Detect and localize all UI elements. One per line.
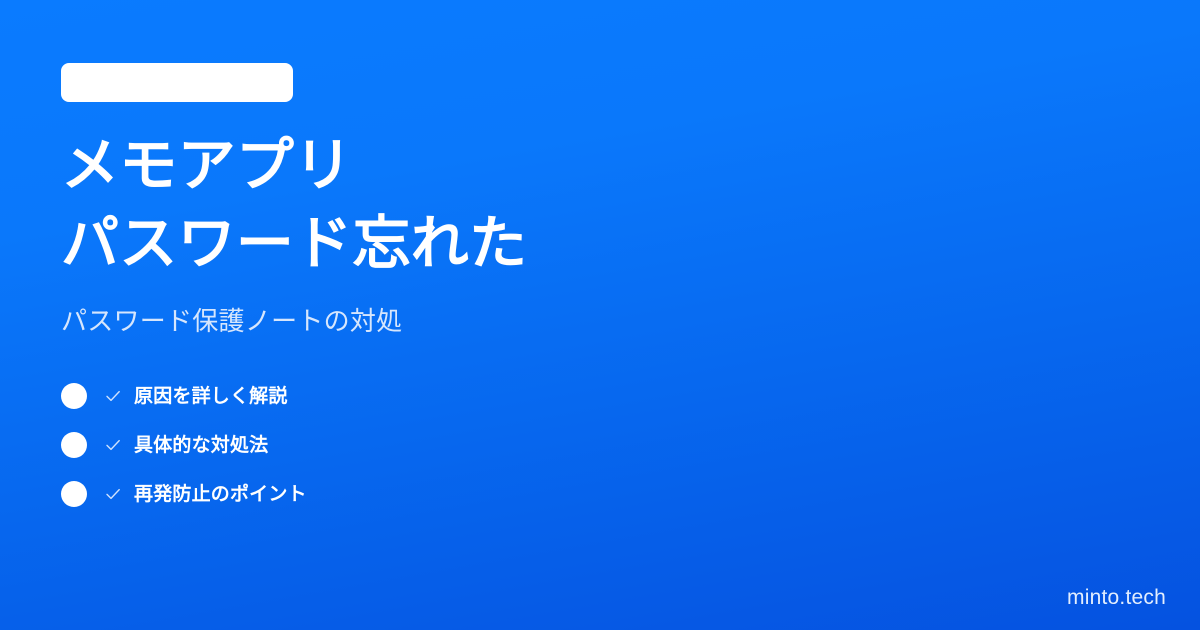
page-title-line-1: メモアプリ [61, 127, 527, 205]
check-icon [104, 436, 122, 454]
category-badge [61, 63, 293, 102]
og-card: メモアプリ パスワード忘れた パスワード保護ノートの対処 原因を詳しく解説 具体… [0, 0, 1200, 630]
feature-list: 原因を詳しく解説 具体的な対処法 再発防止のポイント [61, 381, 307, 509]
list-item-label: 再発防止のポイント [134, 485, 307, 504]
list-item-label: 具体的な対処法 [134, 436, 268, 455]
check-icon [104, 387, 122, 405]
bullet-dot-icon [61, 481, 87, 507]
list-item: 原因を詳しく解説 [61, 381, 307, 411]
site-brand: minto.tech [1067, 587, 1166, 608]
page-subtitle: パスワード保護ノートの対処 [61, 304, 402, 338]
list-item-label: 原因を詳しく解説 [134, 387, 288, 406]
page-title: メモアプリ パスワード忘れた [61, 127, 527, 283]
bullet-dot-icon [61, 432, 87, 458]
bullet-dot-icon [61, 383, 87, 409]
list-item: 再発防止のポイント [61, 479, 307, 509]
list-item: 具体的な対処法 [61, 430, 307, 460]
check-icon [104, 485, 122, 503]
page-title-line-2: パスワード忘れた [61, 205, 527, 283]
